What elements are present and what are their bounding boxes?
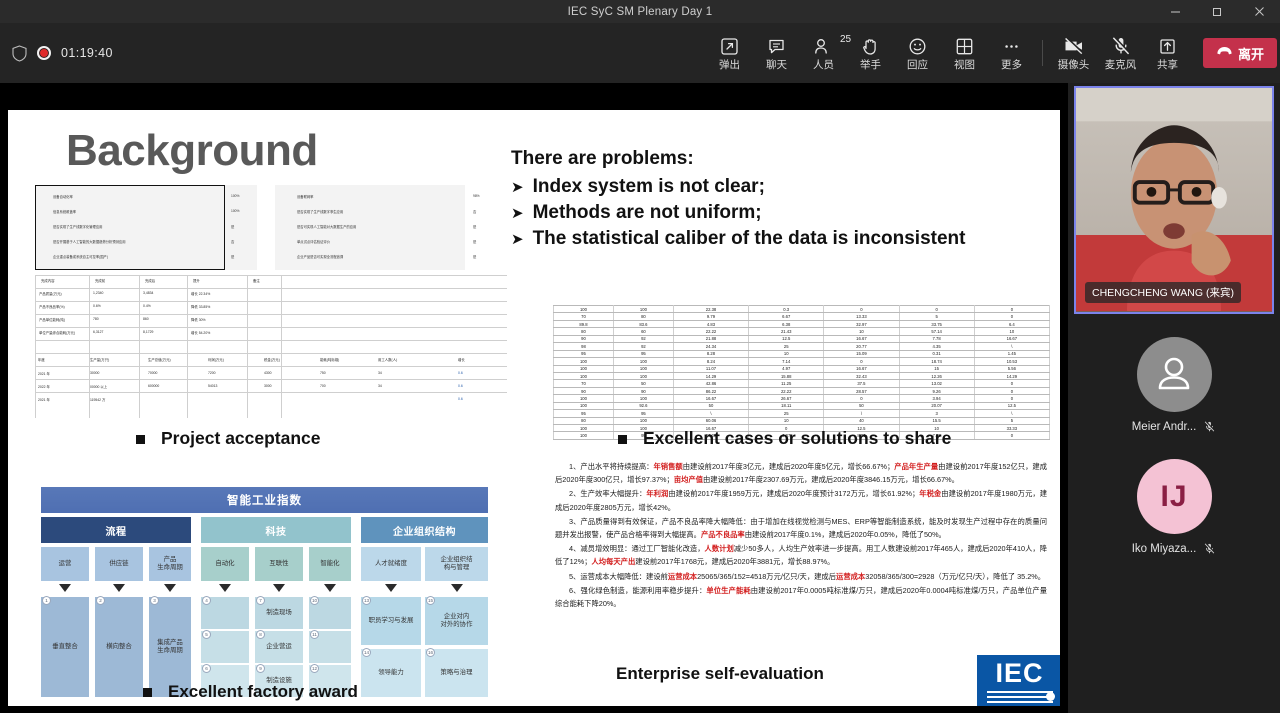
arrow-bullet-icon: ➤ (511, 205, 524, 222)
doc-table2-cell: 0.6 (458, 384, 463, 388)
table-cell: 42.86 (673, 380, 748, 387)
down-arrow-icon (273, 584, 285, 592)
diagram-subcategory: 运营 (41, 547, 89, 581)
self-video-tile[interactable]: CHENGCHENG WANG (来宾) (1074, 86, 1274, 314)
chinese-paragraphs: 1、产出水平将持续提高：年销售额由建设前2017年度3亿元，建成后2020年度5… (555, 460, 1047, 611)
caption-text: Excellent factory award (168, 682, 358, 701)
down-arrow-icon (59, 584, 71, 592)
table-cell: \ (824, 410, 899, 417)
table-row: 9595\25\3\ (554, 410, 1050, 417)
table-cell: 0.3 (749, 306, 824, 313)
doc-row-label: 是否实现了生产线数字孪生应用 (297, 209, 343, 214)
arrow-bullet-icon: ➤ (511, 231, 524, 248)
table-cell: 10.53 (974, 358, 1049, 365)
doc-table2-cell: 600000 (148, 384, 159, 388)
table-cell: 98 (554, 343, 614, 350)
table-cell: 9.26 (899, 387, 974, 394)
caption-text: Project acceptance (161, 428, 321, 448)
doc-table-cell: 降低 33.85% (191, 304, 210, 309)
table-cell: 16.67 (974, 335, 1049, 342)
doc-row-value: 是 (473, 239, 476, 244)
bullet-square-icon (618, 435, 627, 444)
diagram-item: 企业对内对外的协作 (425, 597, 488, 645)
toolbar-label-chat: 聊天 (766, 60, 787, 71)
doc-table-cell: 860 (143, 317, 149, 321)
table-cell: 32.43 (824, 372, 899, 379)
restore-icon[interactable] (1196, 0, 1238, 23)
problem-item-3: ➤The statistical caliber of the data is … (511, 226, 965, 252)
down-arrow-icon (219, 584, 231, 592)
highlight-term: 人数计划 (705, 544, 734, 553)
table-cell: 90 (554, 335, 614, 342)
person-icon (1151, 352, 1197, 398)
table-row: 989224.342520.774.35\ (554, 343, 1050, 350)
table-cell: 20.07 (899, 402, 974, 409)
table-cell: 33.33 (974, 425, 1049, 432)
avatar: IJ (1137, 459, 1212, 534)
hang-up-icon (1216, 44, 1233, 62)
table-cell: 0 (974, 380, 1049, 387)
toolbar-label-mic: 麦克风 (1105, 60, 1137, 71)
table-cell: \ (673, 410, 748, 417)
doc-table-cell: 产品质量(万元) (39, 291, 62, 296)
doc-table2-header: 用工人数(人) (378, 357, 397, 362)
toolbar-button-share[interactable]: 共享 (1144, 25, 1191, 81)
table-cell: 25 (749, 343, 824, 350)
diagram-subcategory: 自动化 (201, 547, 249, 581)
doc-table-cell: 产品不良品率(%) (39, 304, 65, 309)
table-cell: 95 (554, 410, 614, 417)
table-cell: 0 (824, 395, 899, 402)
doc-table-header: 提升 (193, 278, 200, 283)
highlight-term: 年税金 (919, 489, 941, 498)
diagram-subcategory: 产品生命周期 (149, 547, 191, 581)
toolbar-button-chat[interactable]: 聊天 (753, 25, 800, 81)
mic-off-icon (1203, 542, 1216, 555)
doc-table-cell: 8,1729 (143, 330, 153, 334)
teams-meeting-window: IEC SyC SM Plenary Day 1 01:19:40 (0, 0, 1280, 713)
table-cell: 89.8 (554, 320, 614, 327)
doc-table2-cell: 34 (378, 371, 382, 375)
iec-logo: IEC ® (977, 655, 1060, 706)
table-cell: 12.5 (749, 335, 824, 342)
doc-table-cell: 增长 54.20% (191, 330, 210, 335)
table-cell: 100 (613, 395, 673, 402)
table-cell: 40 (824, 417, 899, 424)
window-controls (1154, 0, 1280, 23)
doc-row-label: 是否开展基于人工智能的大数据趋势分析预测应用 (53, 239, 126, 244)
doc-table2-header: 年度 (38, 357, 45, 362)
table-cell: 95 (613, 410, 673, 417)
paragraph: 4、减员增效明显：通过工厂智能化改造，人数计划减少50多人，人均生产效率进一步提… (555, 542, 1047, 568)
participant-name-row: Meier Andr... (1132, 420, 1217, 433)
table-cell: 86.22 (673, 387, 748, 394)
meeting-timer: 01:19:40 (61, 46, 113, 60)
presentation-slide: Background 设备自动化率100%信息系统覆盖率100%是否实现了生产线… (8, 110, 1060, 706)
doc-row-value: 是 (473, 224, 476, 229)
table-row: 705042.8611.2537.513.020 (554, 380, 1050, 387)
table-cell: 92 (613, 343, 673, 350)
down-arrow-icon (385, 584, 397, 592)
iec-logo-bars (987, 691, 1053, 705)
table-cell: 6.38 (749, 320, 824, 327)
doc-table-header: 完成后 (145, 278, 155, 283)
table-cell: 0 (974, 432, 1049, 440)
leave-meeting-button[interactable]: 离开 (1203, 38, 1277, 68)
page-title: Background (66, 126, 318, 176)
down-arrow-icon (451, 584, 463, 592)
doc-row-label: 企业产品是否可实现全流程追溯 (297, 254, 343, 259)
people-icon: 25 (814, 35, 833, 57)
table-cell: 80 (554, 417, 614, 424)
table-cell: 37.5 (824, 380, 899, 387)
toolbar-status-group: 01:19:40 (0, 45, 113, 62)
doc-row-value: 98% (473, 194, 480, 198)
table-cell: 7.14 (749, 358, 824, 365)
participant-tile-1[interactable]: Meier Andr... (1074, 323, 1274, 447)
table-row: 10092.65018.115020.0712.5 (554, 402, 1050, 409)
table-row: 806022.2221.431057.1410 (554, 328, 1050, 335)
table-cell: 20.77 (824, 343, 899, 350)
doc-row-value: 是 (231, 224, 234, 229)
table-cell: 22.38 (673, 306, 748, 313)
problems-block: There are problems: ➤Index system is not… (511, 148, 965, 252)
highlight-term: 产品年生产量 (894, 462, 938, 471)
doc-table2-cell: 7200 (208, 371, 216, 375)
diagram-item-number: 1 (42, 596, 51, 605)
table-cell: 100 (613, 306, 673, 313)
doc-table2-cell: 00000 以上 (90, 384, 107, 389)
toolbar-button-camera[interactable]: 摄像头 (1050, 25, 1097, 81)
shared-screen-stage: Background 设备自动化率100%信息系统覆盖率100%是否实现了生产线… (0, 83, 1068, 713)
table-cell: 7.78 (899, 335, 974, 342)
doc-table2-cell: 750 (320, 371, 326, 375)
toolbar-label-popout: 弹出 (719, 60, 740, 71)
diagram-item: 横向整合 (95, 597, 143, 697)
participant-roster: CHENGCHENG WANG (来宾) Meier Andr... (1068, 83, 1280, 713)
table-cell: 100 (554, 306, 614, 313)
doc-table-header: 备注 (253, 278, 260, 283)
paragraph: 5、运营成本大幅降低：建设前运营成本25065/365/152=4518万元/亿… (555, 570, 1047, 583)
table-cell: 13.02 (899, 380, 974, 387)
diagram-subcategory: 互联性 (255, 547, 303, 581)
table-cell: 15.5 (899, 417, 974, 424)
statistics-table: 10010022.380.300070809.796.6713.335089.8… (553, 305, 1050, 440)
doc-lower-table: 完成内容完成前完成后提升备注产品质量(万元)1,23403,4834增长 22.… (35, 275, 507, 418)
table-cell: 90 (613, 387, 673, 394)
table-cell: 26.67 (749, 395, 824, 402)
iec-logo-text: IEC (995, 659, 1043, 687)
problem-text: The statistical caliber of the data is i… (533, 228, 966, 249)
toolbar-label-camera: 摄像头 (1058, 60, 1090, 71)
diagram-subcategory: 企业组织结构与管理 (425, 547, 488, 581)
table-row: 909221.8812.516.677.7816.67 (554, 335, 1050, 342)
doc-row-value: 否 (473, 209, 476, 214)
doc-row-label: 设备联网率 (297, 194, 313, 199)
table-cell: 3.94 (899, 395, 974, 402)
table-row: 89.883.64.836.3832.9733.756.4 (554, 320, 1050, 327)
paragraph: 3、产品质量得到有效保证，产品不良品率降大幅降低：由于增加在线视觉检测与MES、… (555, 515, 1047, 541)
highlight-term: 运营成本 (668, 572, 697, 581)
toolbar-button-reactions[interactable]: 回应 (894, 25, 941, 81)
table-cell: 50 (613, 380, 673, 387)
table-cell: 22.22 (749, 387, 824, 394)
doc-row-value: 100% (231, 194, 239, 198)
table-cell: 15.09 (824, 350, 899, 357)
arrow-bullet-icon: ➤ (511, 179, 524, 196)
table-cell: 14.29 (673, 372, 748, 379)
table-cell: 12.5 (974, 402, 1049, 409)
table-cell: 100 (613, 417, 673, 424)
avatar (1137, 337, 1212, 412)
table-cell: 60 (613, 328, 673, 335)
camera-off-icon (1063, 35, 1085, 57)
doc-table-cell: 增长 22.34% (191, 291, 210, 296)
raise-hand-icon (861, 35, 880, 57)
table-cell: 92 (613, 335, 673, 342)
close-icon[interactable] (1238, 0, 1280, 23)
doc-row-label: 企业重点装备或系统自主可控率(国产) (53, 254, 108, 259)
toolbar-button-more[interactable]: 更多 (988, 25, 1035, 81)
meeting-toolbar: 01:19:40 弹出 聊天 25 人员 (0, 23, 1280, 83)
diagram-item-number: 9 (256, 664, 265, 673)
doc-table2-header: 生产总值(万元) (148, 357, 171, 362)
table-cell: 13.33 (824, 313, 899, 320)
doc-table-cell: 1,2340 (93, 291, 103, 295)
table-cell: 11.07 (673, 365, 748, 372)
share-screen-icon (1158, 35, 1177, 57)
table-cell: 28.57 (824, 387, 899, 394)
table-cell: 22.22 (673, 328, 748, 335)
paragraph: 2、生产效率大幅提升：年利润由建设前2017年度1959万元，建成后2020年度… (555, 487, 1047, 513)
table-cell: 100 (554, 365, 614, 372)
problem-text: Methods are not uniform; (533, 202, 762, 223)
table-cell: 6.4 (974, 320, 1049, 327)
table-row: 1001008.247.14018.7410.53 (554, 358, 1050, 365)
table-cell: 0 (974, 313, 1049, 320)
doc-table-cell: 780 (93, 317, 99, 321)
highlight-term: 产品不良品率 (701, 530, 745, 539)
table-cell: 0 (824, 358, 899, 365)
table-cell: 24.34 (673, 343, 748, 350)
table-cell: 3 (899, 410, 974, 417)
table-cell: 1.45 (974, 350, 1049, 357)
minimize-icon[interactable] (1154, 0, 1196, 23)
table-cell: 6.67 (749, 313, 824, 320)
table-cell: 95 (613, 350, 673, 357)
table-row: 10010011.074.9716.67155.56 (554, 365, 1050, 372)
toolbar-label-raise-hand: 举手 (860, 60, 881, 71)
table-cell: 92.6 (613, 402, 673, 409)
doc-table2-cell: 54013 (208, 384, 217, 388)
caption-project-acceptance: Project acceptance (136, 428, 321, 449)
table-cell: 16.67 (824, 365, 899, 372)
table-cell: 10 (824, 328, 899, 335)
table-cell: 100 (613, 372, 673, 379)
toolbar-actions: 弹出 聊天 25 人员 举手 (706, 23, 1277, 83)
doc-table2-cell: 0.6 (458, 371, 463, 375)
toolbar-button-mic[interactable]: 麦克风 (1097, 25, 1144, 81)
doc-table2-header: 能耗(吨标煤) (320, 357, 339, 362)
table-cell: 0 (899, 306, 974, 313)
toolbar-label-reactions: 回应 (907, 60, 928, 71)
table-row: 70809.796.6713.3350 (554, 313, 1050, 320)
doc-table-cell: 降低 30% (191, 317, 206, 322)
table-cell: 14.29 (974, 372, 1049, 379)
participant-name: Iko Miyaza... (1132, 543, 1197, 555)
diagram-item-number: 15 (426, 596, 435, 605)
table-row: 10010016.6726.6703.940 (554, 395, 1050, 402)
more-ellipsis-icon (1002, 35, 1021, 57)
table-cell: \ (974, 343, 1049, 350)
bullet-square-icon (143, 688, 152, 697)
caption-excellent-cases: Excellent cases or solutions to share (618, 428, 951, 449)
table-cell: 100 (554, 402, 614, 409)
table-cell: 80 (554, 328, 614, 335)
caption-text: Excellent cases or solutions to share (643, 428, 951, 448)
table-cell: 50 (673, 402, 748, 409)
participant-tile-2[interactable]: IJ Iko Miyaza... (1074, 445, 1274, 569)
toolbar-button-popout[interactable]: 弹出 (706, 25, 753, 81)
record-dot-icon (37, 46, 51, 60)
table-cell: 8.24 (673, 358, 748, 365)
leave-label: 离开 (1238, 44, 1264, 63)
webcam-video (1076, 88, 1272, 311)
highlight-term: 人均每天产出 (592, 557, 636, 566)
diagram-item-number: 4 (202, 596, 211, 605)
table-cell: \ (974, 410, 1049, 417)
table-cell: 57.14 (899, 328, 974, 335)
doc-row-value: 否 (231, 239, 234, 244)
table-cell: 0.31 (899, 350, 974, 357)
table-row: 10010022.380.3000 (554, 306, 1050, 313)
diagram-item: 策略与治理 (425, 649, 488, 697)
toolbar-button-view[interactable]: 视图 (941, 25, 988, 81)
mic-off-icon (1110, 35, 1132, 57)
diagram-category: 企业组织结构 (361, 517, 488, 543)
table-cell: 50 (824, 402, 899, 409)
diagram-item-number: 8 (256, 630, 265, 639)
table-cell: 100 (613, 358, 673, 365)
table-row: 95958.281015.090.311.45 (554, 350, 1050, 357)
down-arrow-icon (324, 584, 336, 592)
doc-table-cell: 单位产量综合能耗(万元) (39, 330, 75, 335)
doc-row-label: 设备自动化率 (53, 194, 73, 199)
toolbar-label-view: 视图 (954, 60, 975, 71)
doc-row-label: 信息系统覆盖率 (53, 209, 76, 214)
industry-index-diagram: 智能工业指数 流程科技企业组织结构 运营供应链产品生命周期自动化互联性智能化人才… (11, 487, 491, 697)
toolbar-button-people[interactable]: 25 人员 (800, 25, 847, 81)
table-cell: 32.97 (824, 320, 899, 327)
doc-table-cell: 0.4% (143, 304, 151, 308)
diagram-item-number: 3 (150, 596, 159, 605)
self-name-label: CHENGCHENG WANG (来宾) (1085, 282, 1241, 303)
doc-table2-cell: 2022 年 (38, 384, 50, 389)
problem-text: Index system is not clear; (533, 176, 765, 197)
table-cell: 0 (824, 306, 899, 313)
paragraph: 6、强化绿色制造，能源利用率稳步提升：单位生产能耗由建设前2017年0.0005… (555, 584, 1047, 610)
table-cell: 18.74 (899, 358, 974, 365)
participant-name-row: Iko Miyaza... (1132, 542, 1217, 555)
diagram-item-number: 5 (202, 630, 211, 639)
table-cell: 5 (899, 313, 974, 320)
doc-table2-cell: 3000 (264, 384, 272, 388)
highlight-term: 年销售额 (653, 462, 682, 471)
table-cell: 10 (749, 417, 824, 424)
diagram-category: 科技 (201, 517, 351, 543)
table-cell: 0 (974, 395, 1049, 402)
diagram-item: 领导能力 (361, 649, 421, 697)
diagram-item-number: 14 (362, 648, 371, 657)
table-cell: 5 (974, 417, 1049, 424)
highlight-term: 单位生产能耗 (706, 586, 750, 595)
doc-row-value: 是 (231, 254, 234, 259)
doc-table2-cell: 700 (320, 384, 326, 388)
table-row: 10010014.2915.8832.4312.2614.29 (554, 372, 1050, 379)
down-arrow-icon (164, 584, 176, 592)
window-title: IEC SyC SM Plenary Day 1 (568, 6, 713, 18)
toolbar-label-people: 人员 (813, 60, 834, 71)
diagram-subcategory: 智能化 (309, 547, 351, 581)
diagram-item-number: 2 (96, 596, 105, 605)
participant-name: Meier Andr... (1132, 421, 1197, 433)
doc-row-label: 是否实现了生产线数字化管理应用 (53, 224, 102, 229)
doc-table2-cell: 2021 年 (38, 371, 50, 376)
table-cell: 21.43 (749, 328, 824, 335)
doc-table2-header: 增长 (458, 357, 465, 362)
document-screenshot-image: 设备自动化率100%信息系统覆盖率100%是否实现了生产线数字化管理应用是是否开… (35, 185, 507, 418)
doc-table2-header: 利润(万元) (208, 357, 224, 362)
table-cell: 83.6 (613, 320, 673, 327)
doc-table2-header: 税金(万元) (264, 357, 280, 362)
table-cell: 21.88 (673, 335, 748, 342)
table-cell: 4.83 (673, 320, 748, 327)
table-cell: 4.97 (749, 365, 824, 372)
doc-row-value: 是 (473, 254, 476, 259)
table-cell: 16.67 (824, 335, 899, 342)
problem-item-2: ➤Methods are not uniform; (511, 200, 965, 226)
doc-table-cell: 0.6% (93, 304, 101, 308)
diagram-subcategory: 供应链 (95, 547, 143, 581)
table-row: 909086.2222.2228.579.260 (554, 387, 1050, 394)
diagram-category: 流程 (41, 517, 191, 543)
diagram-item-number: 13 (362, 596, 371, 605)
doc-table-cell: 3,4834 (143, 291, 153, 295)
window-title-bar: IEC SyC SM Plenary Day 1 (0, 0, 1280, 23)
doc-table2-cell: 34 (378, 384, 382, 388)
problems-heading: There are problems: (511, 148, 965, 170)
doc-table2-cell: 4300 (264, 371, 272, 375)
highlight-term: 运营成本 (836, 572, 865, 581)
diagram-item-number: 16 (426, 648, 435, 657)
table-cell: 18.11 (749, 402, 824, 409)
table-cell: 90 (554, 387, 614, 394)
doc-table2-cell: 0.6 (458, 397, 463, 401)
table-cell: 15.88 (749, 372, 824, 379)
doc-table2-cell: 30000 (90, 371, 99, 375)
table-cell: 70 (554, 313, 614, 320)
doc-row-label: 单点试点评估验证评价 (297, 239, 330, 244)
down-arrow-icon (113, 584, 125, 592)
toolbar-button-raise-hand[interactable]: 举手 (847, 25, 894, 81)
pop-out-icon (720, 35, 739, 57)
table-cell: 70 (554, 380, 614, 387)
caption-enterprise-self: Enterprise self-evaluation (616, 664, 824, 684)
diagram-item-number: 6 (202, 664, 211, 673)
table-cell: 4.35 (899, 343, 974, 350)
table-cell: 25 (749, 410, 824, 417)
bullet-square-icon (136, 435, 145, 444)
